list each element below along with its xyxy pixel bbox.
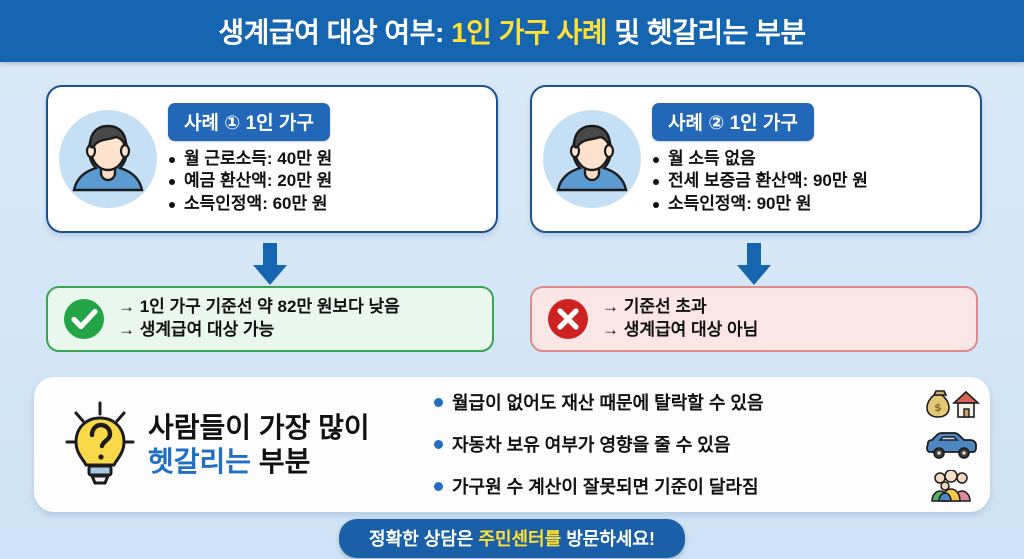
cta-highlight: 주민센터를 (478, 529, 561, 549)
panel-heading-blue: 헷갈리는 (148, 446, 251, 477)
list-item-label: 자동차 보유 여부가 영향을 줄 수 있음 (452, 436, 918, 454)
panel-heading-line2: 헷갈리는 부분 (148, 445, 370, 478)
check-circle-icon (62, 297, 106, 341)
page-title: 생계급여 대상 여부: 1인 가구 사례 및 헷갈리는 부분 (218, 11, 805, 51)
panel-heading-line1: 사람들이 가장 많이 (148, 411, 370, 444)
case-list-1: 월 근로소득: 40만 원 예금 환산액: 20만 원 소득인정액: 60만 원 (168, 148, 484, 216)
lightbulb-question-icon (60, 397, 140, 493)
bullet-dot-icon (434, 440, 443, 449)
cta-banner-text: 정확한 상담은 주민센터를 방문하세요! (369, 525, 655, 551)
bullet-dot-icon (434, 398, 443, 407)
panel-right: 월급이 없어도 재산 때문에 탈락할 수 있음 $ (434, 382, 990, 508)
avatar (59, 110, 157, 208)
list-item: 가구원 수 계산이 잘못되면 기준이 달라짐 (434, 466, 980, 508)
down-arrow-icon (250, 243, 290, 285)
page-title-part1: 생계급여 대상 여부: (218, 17, 451, 48)
bullet-dot-icon (434, 482, 443, 491)
svg-text:$: $ (934, 401, 942, 414)
money-bag-house-icon: $ (924, 386, 980, 420)
case-body-2: 사례 ② 1인 가구 월 소득 없음 전세 보증금 환산액: 90만 원 소득인… (652, 103, 980, 216)
case-list-2: 월 소득 없음 전세 보증금 환산액: 90만 원 소득인정액: 90만 원 (652, 148, 968, 216)
car-icon (924, 428, 980, 462)
page-title-part2: 및 헷갈리는 부분 (607, 17, 806, 48)
case-card-2: 사례 ② 1인 가구 월 소득 없음 전세 보증금 환산액: 90만 원 소득인… (530, 85, 982, 233)
case-body-1: 사례 ① 1인 가구 월 근로소득: 40만 원 예금 환산액: 20만 원 소… (168, 103, 496, 216)
case-title-2: 사례 ② 1인 가구 (652, 103, 814, 141)
result-box-eligible: → 1인 가구 기준선 약 82만 원보다 낮음 → 생계급여 대상 가능 (46, 286, 494, 352)
result-box-not-eligible: → 기준선 초과 → 생계급여 대상 아님 (530, 286, 978, 352)
page-title-highlight: 1인 가구 사례 (451, 17, 607, 48)
list-item-label: 월급이 없어도 재산 때문에 탈락할 수 있음 (452, 394, 918, 412)
page-header: 생계급여 대상 여부: 1인 가구 사례 및 헷갈리는 부분 (0, 0, 1024, 62)
panel-left: 사람들이 가장 많이 헷갈리는 부분 (34, 397, 434, 493)
panel-heading-rest: 부분 (251, 446, 310, 477)
avatar-wrap-1 (48, 110, 168, 208)
case-item: 예금 환산액: 20만 원 (168, 170, 484, 193)
cta-banner[interactable]: 정확한 상담은 주민센터를 방문하세요! (339, 519, 685, 558)
result-line: → 1인 가구 기준선 약 82만 원보다 낮음 (118, 296, 400, 319)
case-card-1: 사례 ① 1인 가구 월 근로소득: 40만 원 예금 환산액: 20만 원 소… (46, 85, 498, 233)
panel-heading: 사람들이 가장 많이 헷갈리는 부분 (148, 411, 370, 477)
case-item: 소득인정액: 90만 원 (652, 193, 968, 216)
case-item: 월 근로소득: 40만 원 (168, 148, 484, 171)
family-group-icon (924, 470, 980, 504)
down-arrow-icon (734, 243, 774, 285)
result-line: → 기준선 초과 (602, 296, 758, 319)
confusion-panel: 사람들이 가장 많이 헷갈리는 부분 월급이 없어도 재산 때문에 탈락할 수 … (34, 377, 990, 512)
case-title-1: 사례 ① 1인 가구 (168, 103, 330, 141)
list-item: 자동차 보유 여부가 영향을 줄 수 있음 (434, 424, 980, 466)
result-lines-not-eligible: → 기준선 초과 → 생계급여 대상 아님 (602, 296, 758, 342)
result-lines-eligible: → 1인 가구 기준선 약 82만 원보다 낮음 → 생계급여 대상 가능 (118, 296, 400, 342)
list-item-label: 가구원 수 계산이 잘못되면 기준이 달라짐 (452, 478, 918, 496)
cta-part2: 방문하세요! (561, 529, 655, 549)
case-item: 전세 보증금 환산액: 90만 원 (652, 170, 968, 193)
x-circle-icon (546, 297, 590, 341)
result-line: → 생계급여 대상 가능 (118, 319, 400, 342)
infographic-root: 생계급여 대상 여부: 1인 가구 사례 및 헷갈리는 부분 사례 ① 1인 가… (0, 0, 1024, 559)
avatar-wrap-2 (532, 110, 652, 208)
cta-part1: 정확한 상담은 (369, 529, 478, 549)
list-item: 월급이 없어도 재산 때문에 탈락할 수 있음 $ (434, 382, 980, 424)
avatar (543, 110, 641, 208)
case-item: 소득인정액: 60만 원 (168, 193, 484, 216)
confusion-list: 월급이 없어도 재산 때문에 탈락할 수 있음 $ (434, 382, 980, 508)
case-item: 월 소득 없음 (652, 148, 968, 171)
result-line: → 생계급여 대상 아님 (602, 319, 758, 342)
